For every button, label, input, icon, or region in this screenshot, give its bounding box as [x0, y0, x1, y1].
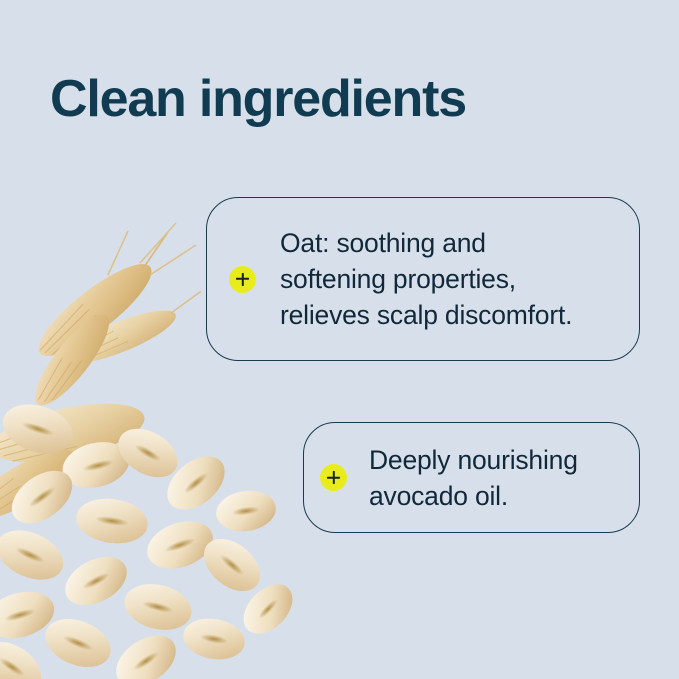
page-title: Clean ingredients: [50, 69, 466, 129]
plus-icon: [320, 464, 347, 491]
callout-text-avocado: Deeply nourishing avocado oil.: [369, 442, 578, 514]
callout-card-avocado[interactable]: Deeply nourishing avocado oil.: [303, 422, 640, 533]
callout-card-oat[interactable]: Oat: soothing and softening properties, …: [206, 197, 640, 361]
plus-icon: [229, 266, 256, 293]
ingredients-panel: Clean ingredients Oat: soothing and soft…: [0, 0, 679, 679]
callout-text-oat: Oat: soothing and softening properties, …: [280, 225, 572, 333]
